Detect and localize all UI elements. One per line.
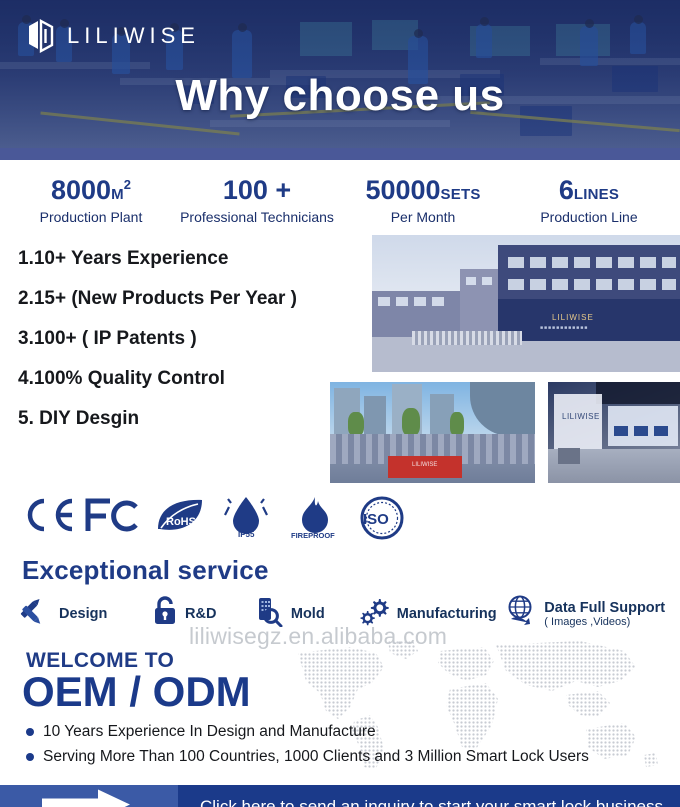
- stat-item: 6LINES Production Line: [506, 176, 672, 225]
- oem-odm-title: OEM / ODM: [22, 671, 251, 713]
- feature-item: 1.10+ Years Experience: [18, 249, 363, 268]
- team-group-photo: LILIWISE: [330, 382, 535, 483]
- features-list: 1.10+ Years Experience 2.15+ (New Produc…: [18, 249, 363, 449]
- certifications-row: RoHS IP55 FIREPROOF ISO: [0, 495, 680, 551]
- showroom-photo: LILIWISE: [548, 382, 680, 483]
- stat-value: 100 +: [174, 176, 340, 204]
- service-item-sublabel: ( Images ,Videos): [544, 616, 665, 628]
- bullet-dot-icon: [26, 753, 34, 761]
- iso-icon: ISO: [356, 495, 408, 546]
- stat-value: 6LINES: [506, 176, 672, 204]
- oem-bullet-text: Serving More Than 100 Countries, 1000 Cl…: [43, 748, 589, 766]
- brand-name: LILIWISE: [67, 25, 200, 47]
- inquiry-cta-bar[interactable]: Click here to send an inquiry to start y…: [0, 785, 680, 807]
- service-item-label: Design: [59, 606, 107, 622]
- stat-label: Professional Technicians: [174, 209, 340, 225]
- liliwise-logo-icon: [26, 19, 56, 53]
- brand-logo: LILIWISE: [26, 19, 200, 53]
- service-item-data-support[interactable]: Data Full Support ( Images ,Videos): [505, 594, 680, 633]
- hero-bottom-band: [0, 148, 680, 160]
- factory-building-photo: LILIWISE ■■■■■■■■■■■■: [372, 235, 680, 372]
- stats-bar: 8000M2 Production Plant 100 + Profession…: [0, 160, 680, 235]
- fc-icon: [84, 495, 140, 540]
- hero-title: Why choose us: [0, 74, 680, 118]
- service-item-design[interactable]: Design: [20, 595, 152, 632]
- service-item-label: R&D: [185, 606, 216, 622]
- service-items-row: Design R&D: [0, 590, 680, 641]
- svg-text:RoHS: RoHS: [166, 516, 196, 528]
- arrow-right-icon: [42, 790, 130, 807]
- padlock-icon: [152, 595, 178, 632]
- service-item-manufacturing[interactable]: Manufacturing: [358, 595, 506, 632]
- feature-item: 3.100+ ( IP Patents ): [18, 329, 363, 348]
- oem-bullet-text: 10 Years Experience In Design and Manufa…: [43, 723, 376, 741]
- feature-item: 4.100% Quality Control: [18, 369, 363, 388]
- design-pencil-icon: [20, 595, 52, 632]
- why-choose-us-infographic: LILIWISE Why choose us 8000M2 Production…: [0, 0, 680, 807]
- svg-text:ISO: ISO: [363, 511, 389, 528]
- oem-bullets: 10 Years Experience In Design and Manufa…: [26, 723, 589, 773]
- service-heading: Exceptional service: [22, 555, 680, 586]
- svg-text:FIREPROOF: FIREPROOF: [291, 531, 335, 540]
- globe-hand-icon: [505, 594, 537, 633]
- stat-label: Production Plant: [8, 209, 174, 225]
- feature-item: 2.15+ (New Products Per Year ): [18, 289, 363, 308]
- gears-icon: [358, 595, 390, 632]
- ce-icon: [20, 495, 76, 540]
- stat-value: 50000SETS: [340, 176, 506, 204]
- oem-bullet-item: Serving More Than 100 Countries, 1000 Cl…: [26, 748, 589, 766]
- stat-label: Production Line: [506, 209, 672, 225]
- cta-arrow-panel[interactable]: [0, 785, 178, 807]
- stat-item: 100 + Professional Technicians: [174, 176, 340, 225]
- rohs-icon: RoHS: [152, 495, 210, 540]
- oem-odm-section: WELCOME TO OEM / ODM 10 Years Experience…: [0, 641, 680, 781]
- stat-item: 8000M2 Production Plant: [8, 176, 174, 225]
- oem-bullet-item: 10 Years Experience In Design and Manufa…: [26, 723, 589, 741]
- service-item-label: Manufacturing: [397, 606, 497, 622]
- svg-text:IP55: IP55: [238, 530, 255, 539]
- cta-label: Click here to send an inquiry to start y…: [178, 797, 663, 807]
- service-item-mold[interactable]: Mold: [256, 595, 358, 632]
- fireproof-icon: FIREPROOF: [284, 495, 346, 546]
- hero-banner: LILIWISE Why choose us: [0, 0, 680, 160]
- ip55-icon: IP55: [222, 495, 270, 546]
- service-item-label: Data Full Support: [544, 600, 665, 616]
- service-item-label: Mold: [291, 606, 325, 622]
- mold-magnifier-icon: [256, 595, 284, 632]
- cta-text-panel[interactable]: Click here to send an inquiry to start y…: [178, 785, 680, 807]
- bullet-dot-icon: [26, 728, 34, 736]
- stat-item: 50000SETS Per Month: [340, 176, 506, 225]
- service-item-rd[interactable]: R&D: [152, 595, 256, 632]
- features-and-photos: 1.10+ Years Experience 2.15+ (New Produc…: [0, 235, 680, 495]
- exceptional-service-section: Exceptional service Design: [0, 555, 680, 641]
- stat-value: 8000M2: [8, 176, 174, 204]
- feature-item: 5. DIY Desgin: [18, 409, 363, 428]
- stat-label: Per Month: [340, 209, 506, 225]
